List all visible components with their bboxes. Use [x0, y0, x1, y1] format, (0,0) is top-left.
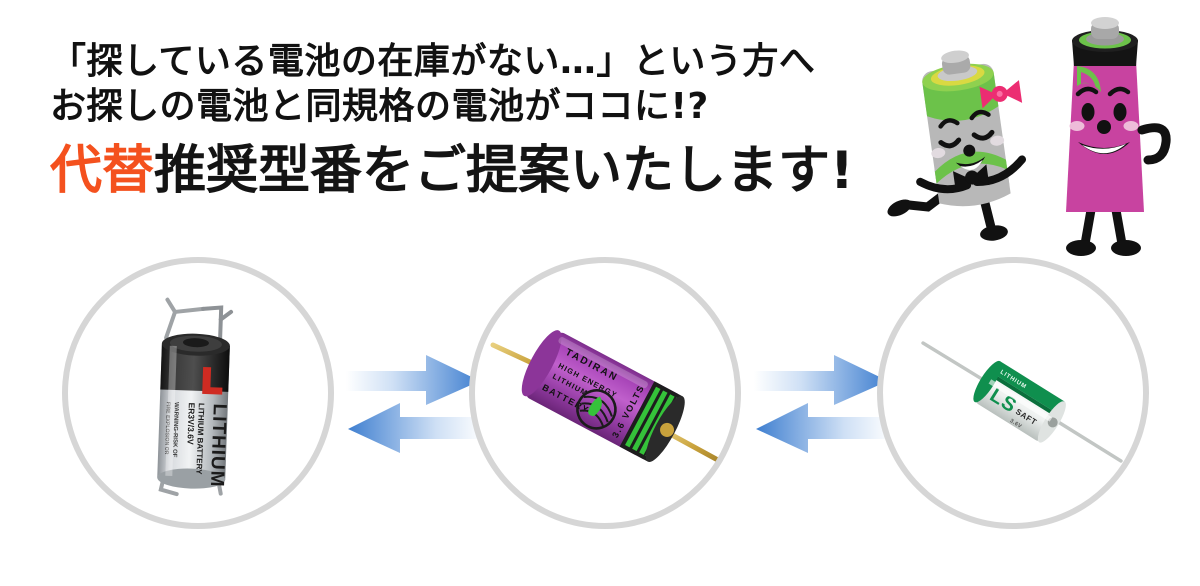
arrow-right-icon — [754, 355, 888, 405]
headline-copy-block: 「探している電池の在庫がない…」という方へ お探しの電池と同規格の電池がココに!… — [50, 40, 910, 200]
arrow-left-icon — [756, 403, 892, 453]
lead-line-2: お探しの電池と同規格の電池がココに!? — [50, 85, 910, 128]
lead-line-1: 「探している電池の在庫がない…」という方へ — [50, 40, 910, 83]
battery-photo-circle-center: TADIRAN — [469, 257, 741, 529]
arrow-pair-right — [748, 351, 898, 459]
headline-rest-text: 推奨型番をご提案いたします! — [154, 141, 854, 201]
battery-photo-circle-left: ER3V/3.6V — [62, 257, 334, 529]
arrow-right-icon — [346, 355, 480, 405]
battery-comparison-row: ER3V/3.6V — [0, 255, 1200, 545]
arrow-left-icon — [348, 403, 484, 453]
svg-text:LITHIUM: LITHIUM — [206, 403, 230, 488]
svg-text:ER3V/3.6V: ER3V/3.6V — [185, 402, 196, 445]
battery-replacement-banner: 「探している電池の在庫がない…」という方へ お探しの電池と同規格の電池がココに!… — [0, 0, 1200, 586]
arrow-pair-left — [340, 351, 490, 459]
mascot-magenta — [1066, 17, 1166, 256]
battery-mascot-group — [878, 14, 1188, 264]
mascot-gray-green — [878, 42, 1041, 255]
main-headline: 代替推奨型番をご提案いたします! — [50, 142, 910, 200]
battery-photo-circle-right: LS — [877, 257, 1149, 529]
headline-accent-text: 代替 — [50, 141, 154, 201]
